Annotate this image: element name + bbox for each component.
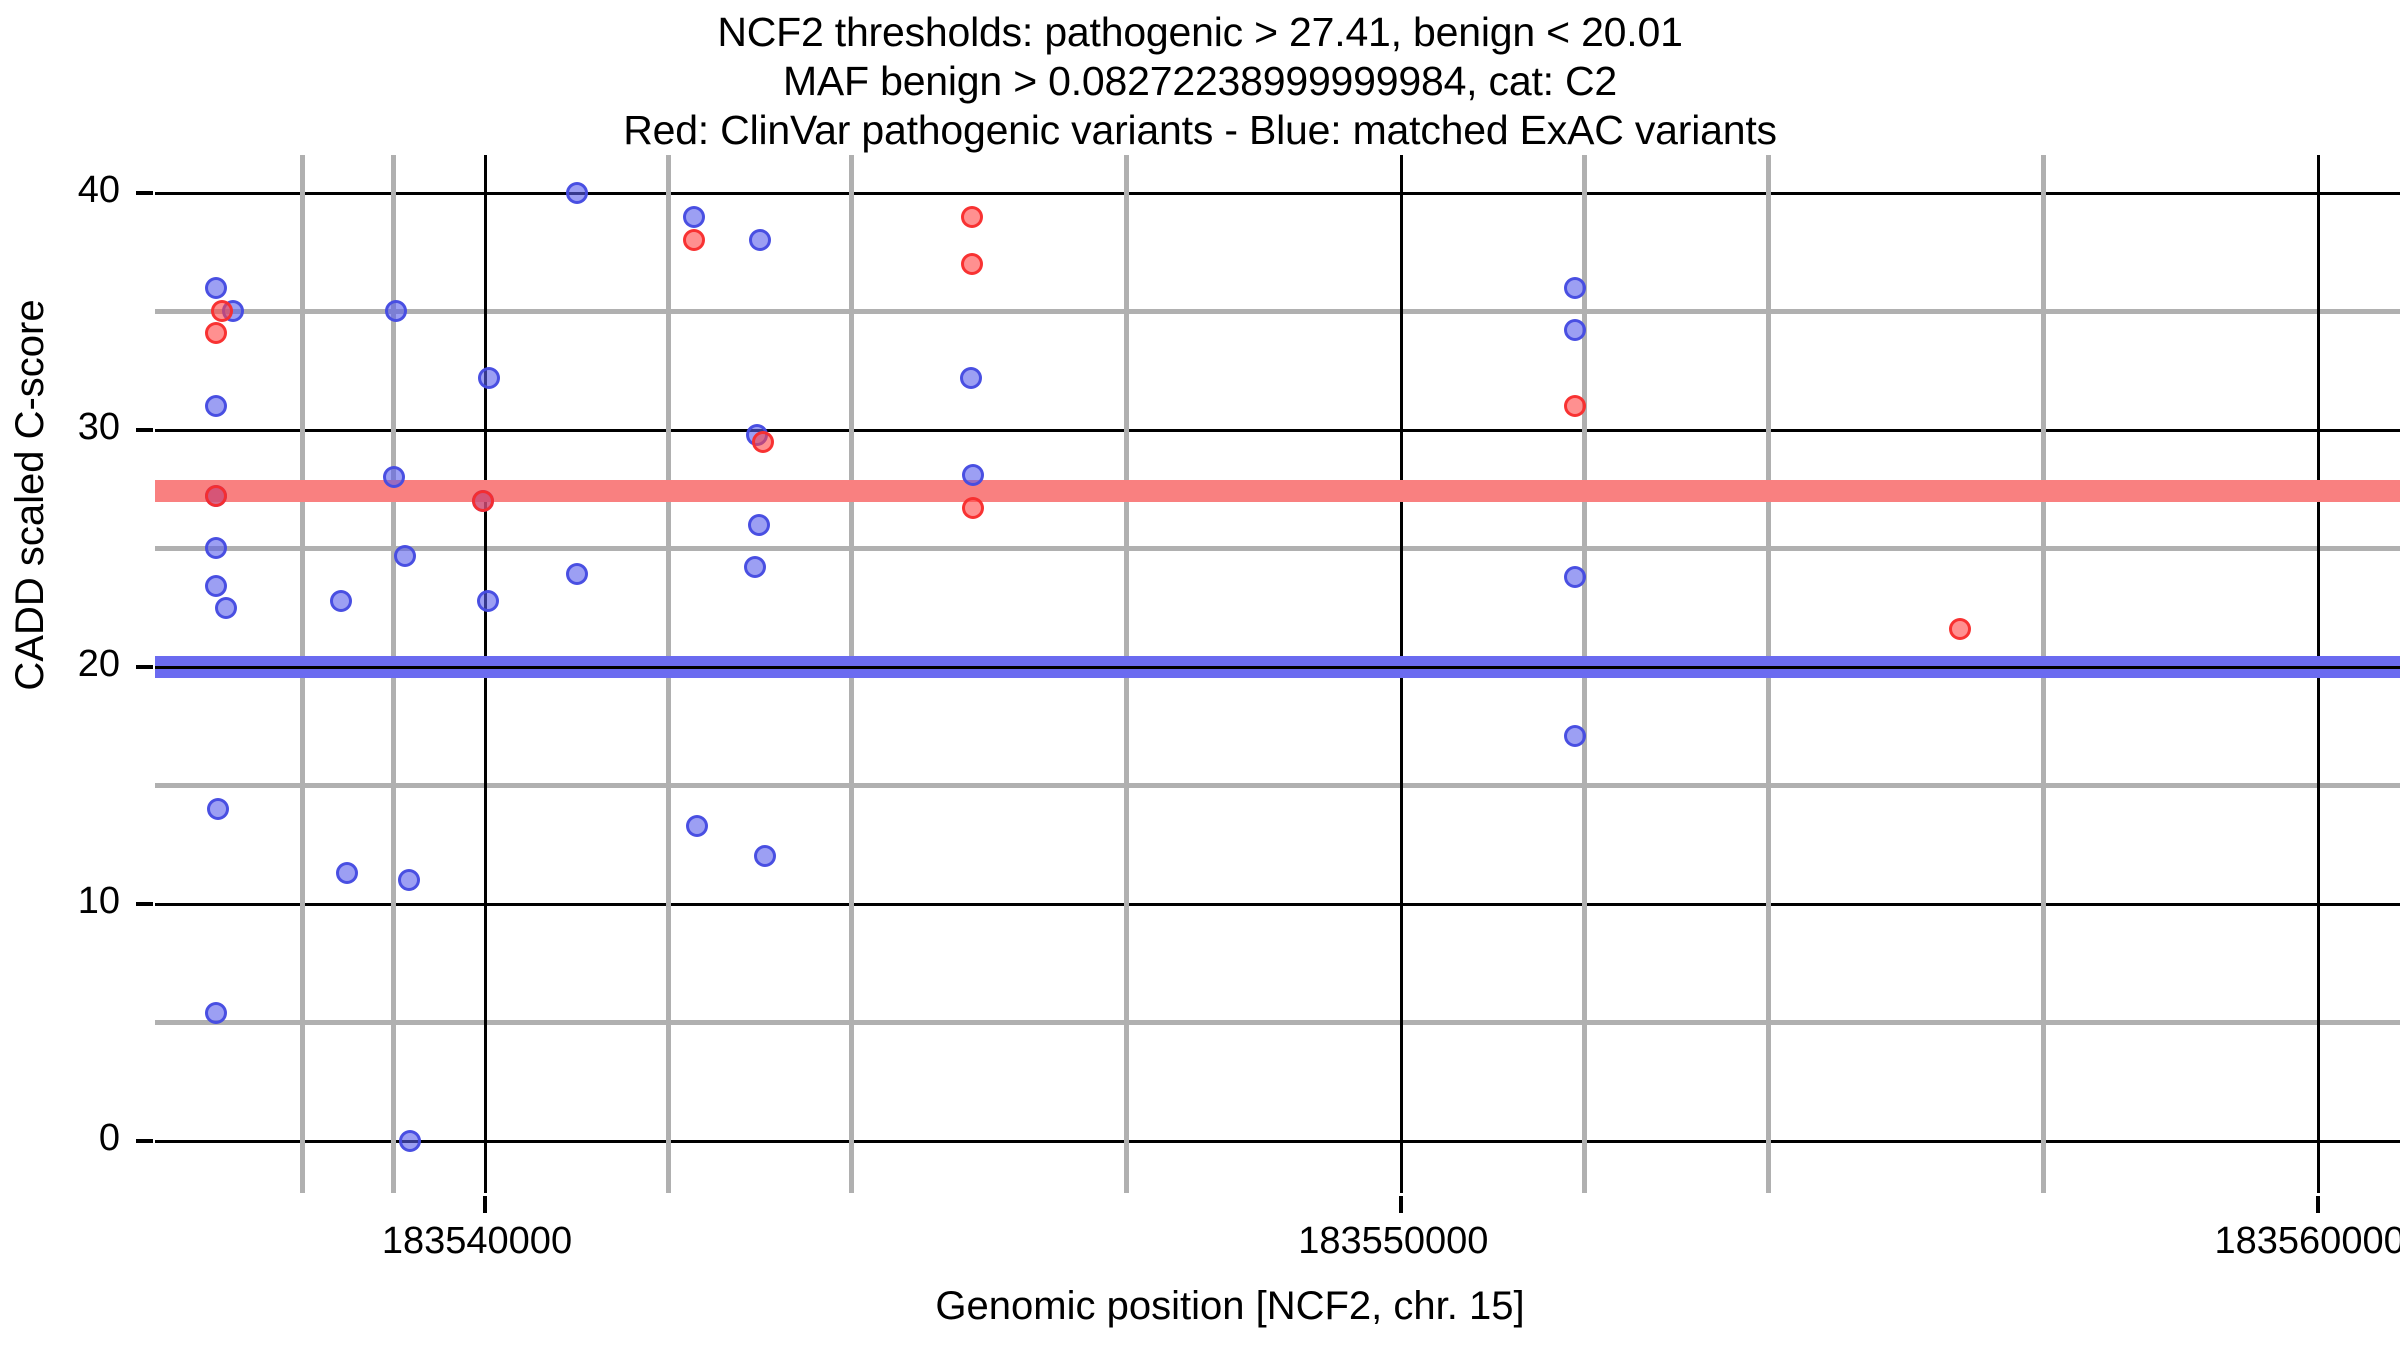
data-point-blue	[205, 395, 227, 417]
data-point-blue	[566, 182, 588, 204]
data-point-red	[961, 206, 983, 228]
axis-line-horizontal	[155, 903, 2400, 906]
data-point-red	[1949, 618, 1971, 640]
x-tick-mark	[1399, 1196, 1403, 1213]
data-point-blue	[336, 862, 358, 884]
chart-figure: NCF2 thresholds: pathogenic > 27.41, ben…	[0, 0, 2400, 1350]
x-tick-label: 183560000	[2215, 1220, 2400, 1263]
x-tick-mark	[483, 1196, 487, 1213]
chart-title-line-1: NCF2 thresholds: pathogenic > 27.41, ben…	[0, 8, 2400, 57]
x-tick-label: 183540000	[382, 1220, 572, 1263]
y-tick-mark	[136, 191, 153, 195]
data-point-blue	[1564, 566, 1586, 588]
y-tick-mark	[136, 1139, 153, 1143]
y-tick-label: 10	[0, 880, 120, 923]
data-point-blue	[205, 575, 227, 597]
chart-title-line-3: Red: ClinVar pathogenic variants - Blue:…	[0, 106, 2400, 155]
y-tick-mark	[136, 665, 153, 669]
data-point-blue	[398, 869, 420, 891]
gridline-horizontal	[155, 1020, 2400, 1025]
chart-title-line-2: MAF benign > 0.08272238999999984, cat: C…	[0, 57, 2400, 106]
gridline-horizontal	[155, 546, 2400, 551]
data-point-red	[205, 485, 227, 507]
data-point-blue	[207, 798, 229, 820]
data-point-blue	[748, 514, 770, 536]
data-point-red	[205, 322, 227, 344]
data-point-blue	[686, 815, 708, 837]
axis-line-horizontal	[155, 429, 2400, 432]
data-point-blue	[215, 597, 237, 619]
data-point-blue	[394, 545, 416, 567]
y-tick-label: 40	[0, 169, 120, 212]
axis-line-horizontal	[155, 666, 2400, 669]
x-tick-label: 183550000	[1298, 1220, 1488, 1263]
axis-line-horizontal	[155, 192, 2400, 195]
data-point-blue	[399, 1130, 421, 1152]
chart-title: NCF2 thresholds: pathogenic > 27.41, ben…	[0, 8, 2400, 155]
data-point-red	[961, 253, 983, 275]
y-tick-label: 0	[0, 1117, 120, 1160]
data-point-blue	[749, 229, 771, 251]
y-tick-label: 30	[0, 406, 120, 449]
data-point-blue	[205, 537, 227, 559]
data-point-blue	[754, 845, 776, 867]
gridline-horizontal	[155, 309, 2400, 314]
y-tick-mark	[136, 902, 153, 906]
x-axis-title: Genomic position [NCF2, chr. 15]	[140, 1284, 2320, 1329]
data-point-blue	[960, 367, 982, 389]
data-point-blue	[478, 367, 500, 389]
data-point-blue	[683, 206, 705, 228]
data-point-blue	[566, 563, 588, 585]
data-point-blue	[1564, 725, 1586, 747]
y-tick-label: 20	[0, 643, 120, 686]
data-point-blue	[385, 300, 407, 322]
data-point-blue	[1564, 277, 1586, 299]
data-point-red	[472, 490, 494, 512]
data-point-red	[683, 229, 705, 251]
plot-area	[155, 155, 2400, 1193]
data-point-red	[962, 497, 984, 519]
axis-line-horizontal	[155, 1140, 2400, 1143]
gridline-horizontal	[155, 783, 2400, 788]
data-point-blue	[477, 590, 499, 612]
data-point-blue	[744, 556, 766, 578]
data-point-blue	[205, 277, 227, 299]
x-tick-mark	[2316, 1196, 2320, 1213]
data-point-blue	[330, 590, 352, 612]
data-point-red	[752, 431, 774, 453]
y-axis-title-text: CADD scaled C-score	[8, 15, 53, 975]
y-tick-mark	[136, 428, 153, 432]
